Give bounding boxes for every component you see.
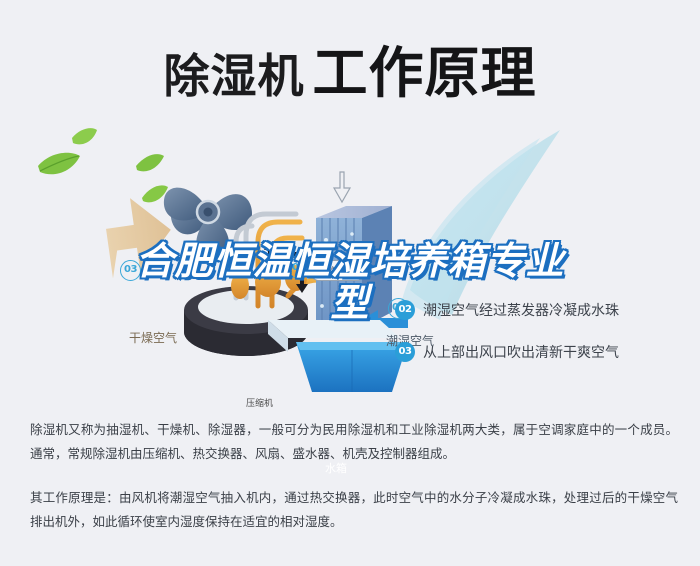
heat-exchanger-pointer (334, 172, 350, 202)
page-title-part1: 除湿机 (163, 49, 304, 103)
diagram-step-02: 02 (288, 258, 309, 279)
leaf-icon-1 (38, 153, 80, 174)
diagram-step-03: 03 (120, 260, 141, 281)
paragraph-1: 除湿机又称为抽湿机、干燥机、除湿器，一般可分为民用除湿机和工业除湿机两大类，属于… (30, 418, 678, 466)
label-heat-exchanger: 热交换器 (310, 260, 366, 281)
label-compressor: 压缩机 (246, 396, 273, 409)
compressor-body (255, 267, 281, 297)
poster-root: 除湿机工作原理 (0, 0, 700, 566)
receiver-body (231, 273, 249, 299)
humid-air-swoosh-inner (402, 138, 540, 320)
description-block: 除湿机又称为抽湿机、干燥机、除湿器，一般可分为民用除湿机和工业除湿机两大类，属于… (30, 418, 678, 554)
annotation-badge: 03 (395, 342, 415, 362)
leaf-icon-2 (72, 128, 97, 144)
water-tray (268, 320, 400, 338)
paragraph-2: 其工作原理是：由风机将潮湿空气抽入机内，通过热交换器，此时空气中的水分子冷凝成水… (30, 486, 678, 534)
leaf-icon-3 (136, 154, 164, 171)
page-title: 除湿机工作原理 (0, 28, 700, 108)
fan-icon (164, 188, 252, 260)
annotation-badge: 02 (395, 300, 415, 320)
annotation-item: 03 从上部出风口吹出清新干爽空气 (395, 342, 695, 362)
annotation-text: 潮湿空气经过蒸发器冷凝成水珠 (423, 300, 619, 320)
annotation-item: 02 潮湿空气经过蒸发器冷凝成水珠 (395, 300, 695, 320)
label-dry-air: 干燥空气 (129, 329, 177, 346)
annotation-list: 02 潮湿空气经过蒸发器冷凝成水珠 03 从上部出风口吹出清新干爽空气 (395, 300, 695, 384)
annotation-text: 从上部出风口吹出清新干爽空气 (423, 342, 619, 362)
page-title-part2: 工作原理 (312, 41, 536, 105)
